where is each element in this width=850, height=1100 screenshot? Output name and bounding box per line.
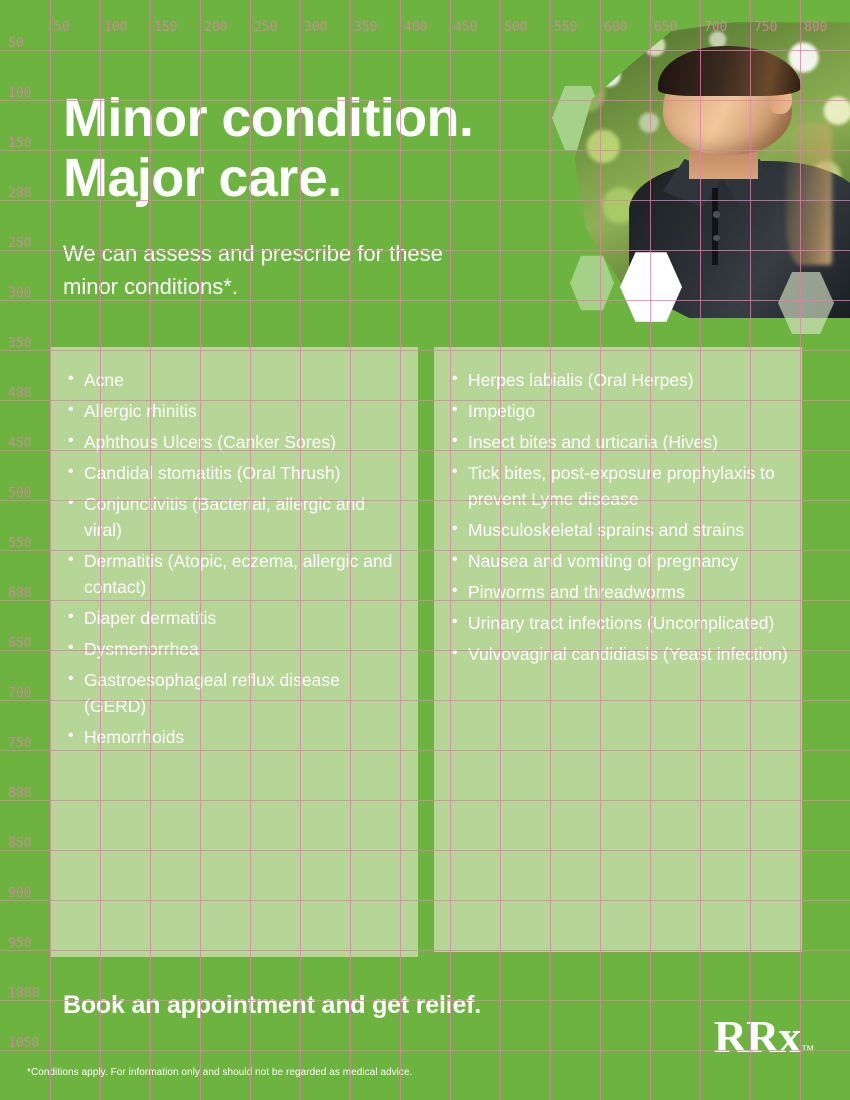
grid-label-y: 350	[8, 337, 31, 350]
grid-label-y: 800	[8, 787, 31, 800]
grid-label-y: 50	[8, 37, 24, 50]
grid-label-y: 300	[8, 287, 31, 300]
grid-label-x: 150	[154, 21, 177, 34]
photo-rim-light	[786, 123, 832, 265]
grid-label-x: 200	[204, 21, 227, 34]
grid-label-y: 550	[8, 537, 31, 550]
list-item: Acne	[66, 367, 404, 393]
list-item: Musculoskeletal sprains and strains	[450, 517, 788, 543]
grid-label-x: 400	[404, 21, 427, 34]
call-to-action-text: Book an appointment and get relief.	[63, 990, 481, 1020]
conditions-list-left: Acne Allergic rhinitis Aphthous Ulcers (…	[66, 367, 404, 750]
grid-label-y: 950	[8, 937, 31, 950]
list-item: Insect bites and urticaria (Hives)	[450, 429, 788, 455]
list-item: Allergic rhinitis	[66, 398, 404, 424]
grid-label-y: 200	[8, 187, 31, 200]
grid-label-y: 400	[8, 387, 31, 400]
list-item: Gastroesophageal reflux disease (GERD)	[66, 667, 404, 719]
grid-label-y: 700	[8, 687, 31, 700]
list-item: Dysmenorrhea	[66, 636, 404, 662]
grid-label-x: 350	[354, 21, 377, 34]
grid-label-y: 850	[8, 837, 31, 850]
grid-label-y: 100	[8, 87, 31, 100]
trademark-symbol: ™	[801, 1042, 813, 1057]
hexagon-decoration-lower-left	[570, 254, 614, 312]
conditions-list-right: Herpes labialis (Oral Herpes) Impetigo I…	[450, 367, 788, 667]
logo-wordmark: RRx	[714, 1011, 800, 1062]
grid-label-x: 50	[54, 21, 70, 34]
grid-label-y: 600	[8, 587, 31, 600]
photo-shirt-button-upper	[713, 211, 720, 217]
grid-label-y: 1050	[8, 1037, 39, 1050]
list-item: Impetigo	[450, 398, 788, 424]
grid-label-y: 250	[8, 237, 31, 250]
conditions-panel-right: Herpes labialis (Oral Herpes) Impetigo I…	[434, 347, 802, 952]
grid-label-x: 300	[304, 21, 327, 34]
list-item: Dermatitis (Atopic, eczema, allergic and…	[66, 548, 404, 600]
brand-logo: RRx™	[714, 1014, 812, 1071]
list-item: Herpes labialis (Oral Herpes)	[450, 367, 788, 393]
list-item: Candidal stomatitis (Oral Thrush)	[66, 460, 404, 486]
grid-label-y: 150	[8, 137, 31, 150]
grid-label-y: 900	[8, 887, 31, 900]
poster-canvas: Minor condition. Major care. We can asse…	[0, 0, 850, 1100]
grid-label-x: 500	[504, 21, 527, 34]
grid-label-y: 1000	[8, 987, 39, 1000]
disclaimer-text: *Conditions apply. For information only …	[27, 1066, 412, 1080]
page-subtitle: We can assess and prescribe for these mi…	[63, 237, 553, 303]
grid-label-x: 550	[554, 21, 577, 34]
list-item: Aphthous Ulcers (Canker Sores)	[66, 429, 404, 455]
conditions-panel-left: Acne Allergic rhinitis Aphthous Ulcers (…	[50, 347, 418, 957]
grid-label-x: 450	[454, 21, 477, 34]
page-title: Minor condition. Major care.	[63, 88, 583, 208]
grid-label-y: 650	[8, 637, 31, 650]
list-item: Conjunctivitis (Bacterial, allergic and …	[66, 491, 404, 543]
grid-label-y: 450	[8, 437, 31, 450]
list-item: Hemorrhoids	[66, 724, 404, 750]
grid-label-y: 500	[8, 487, 31, 500]
photo-shirt-placket	[712, 188, 718, 265]
list-item: Tick bites, post-exposure prophylaxis to…	[450, 460, 788, 512]
list-item: Nausea and vomiting of pregnancy	[450, 548, 788, 574]
list-item: Pinworms and threadworms	[450, 579, 788, 605]
list-item: Diaper dermatitis	[66, 605, 404, 631]
list-item: Urinary tract infections (Uncomplicated)	[450, 610, 788, 636]
list-item: Vulvovaginal candidiasis (Yeast infectio…	[450, 641, 788, 667]
grid-label-x: 250	[254, 21, 277, 34]
grid-label-y: 750	[8, 737, 31, 750]
grid-label-x: 100	[104, 21, 127, 34]
grid-label-x: 600	[604, 21, 627, 34]
